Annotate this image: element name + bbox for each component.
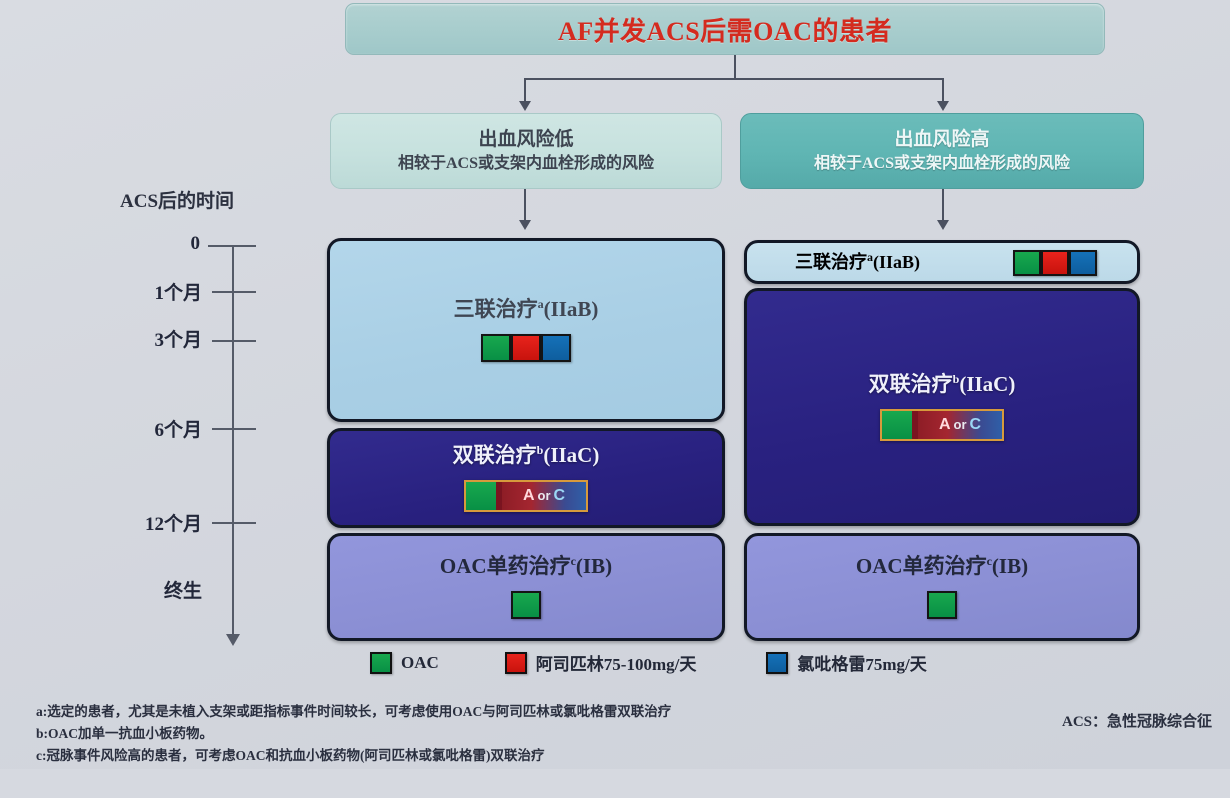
legend-label-oac: OAC (401, 653, 439, 673)
left-dual-therapy-box: 双联治疗b(IIaC) A or C (327, 428, 725, 528)
risk-box-high: 出血风险高 相较于ACS或支架内血栓形成的风险 (740, 113, 1144, 189)
left-triple-therapy-label: 三联治疗a(IIaB) (454, 298, 599, 321)
right-triple-swatches (1013, 250, 1097, 276)
legend-item-clopidogrel: 氯吡格雷75mg/天 (766, 650, 926, 675)
legend: OAC 阿司匹林75-100mg/天 氯吡格雷75mg/天 (370, 650, 927, 675)
footnote-a: a:选定的患者，尤其是未植入支架或距指标事件时间较长，可考虑使用OAC与阿司匹林… (36, 700, 671, 720)
connector-right-to-column (942, 189, 944, 222)
timeline-label-lifelong: 终生 (110, 576, 202, 603)
timeline-arrowhead (226, 634, 240, 646)
connector-right-column-arrowhead (937, 220, 949, 230)
a-or-c-text: A or C (918, 411, 1002, 439)
timeline-label-3: 3个月 (110, 325, 202, 352)
aspirin-swatch (505, 652, 527, 674)
connector-left-column-arrowhead (519, 220, 531, 230)
legend-label-clopidogrel: 氯吡格雷75mg/天 (797, 650, 926, 675)
timeline-tick-0 (208, 245, 256, 247)
right-dual-therapy-label: 双联治疗b(IIaC) (869, 373, 1016, 396)
oac-swatch (481, 334, 511, 362)
footnote-c: c:冠脉事件风险高的患者，可考虑OAC和抗血小板药物(阿司匹林或氯吡格雷)双联治… (36, 744, 544, 764)
risk-low-subtext: 相较于ACS或支架内血栓形成的风险 (398, 153, 654, 175)
clopidogrel-swatch (1069, 250, 1097, 276)
timeline-tick-6 (212, 428, 256, 430)
risk-box-low: 出血风险低 相较于ACS或支架内血栓形成的风险 (330, 113, 722, 189)
clopidogrel-swatch (766, 652, 788, 674)
diagram-canvas: AF并发ACS后需OAC的患者 出血风险低 相较于ACS或支架内血栓形成的风险 … (0, 0, 1230, 769)
a-or-c-text: A or C (502, 482, 586, 510)
risk-high-heading: 出血风险高 (894, 127, 989, 153)
timeline-tick-3 (212, 340, 256, 342)
timeline-tick-12 (212, 522, 256, 524)
diagram-title-box: AF并发ACS后需OAC的患者 (345, 3, 1105, 55)
clopidogrel-swatch (541, 334, 571, 362)
left-triple-swatches (481, 334, 571, 362)
timeline-tick-1 (212, 291, 256, 293)
watermark (1068, 666, 1230, 798)
right-triple-therapy-box: 三联治疗a(IIaB) (744, 240, 1140, 284)
risk-low-heading: 出血风险低 (478, 127, 573, 153)
left-oac-monotherapy-label: OAC单药治疗c(IB) (440, 555, 612, 578)
timeline-label-12: 12个月 (100, 509, 202, 536)
oac-swatch (466, 482, 496, 510)
left-oac-monotherapy-box: OAC单药治疗c(IB) (327, 533, 725, 641)
legend-label-aspirin: 阿司匹林75-100mg/天 (536, 650, 697, 675)
page-title: AF并发ACS后需OAC的患者 (558, 11, 892, 48)
connector-stem (734, 55, 736, 80)
abbreviation-note: ACS：急性冠脉综合征 (1062, 710, 1212, 731)
right-a-or-c-badge: A or C (880, 409, 1004, 441)
legend-item-aspirin: 阿司匹林75-100mg/天 (505, 650, 697, 675)
oac-swatch (1013, 250, 1041, 276)
connector-right-arrowhead (937, 101, 949, 111)
connector-right-drop (942, 78, 944, 103)
legend-item-oac: OAC (370, 652, 439, 674)
right-triple-therapy-label: 三联治疗a(IIaB) (795, 251, 920, 273)
aspirin-swatch (511, 334, 541, 362)
timeline-label-0: 0 (120, 233, 200, 255)
timeline-title: ACS后的时间 (120, 186, 234, 213)
oac-swatch (370, 652, 392, 674)
oac-swatch (511, 591, 541, 619)
connector-left-drop (524, 78, 526, 103)
risk-high-subtext: 相较于ACS或支架内血栓形成的风险 (814, 153, 1070, 175)
left-mono-swatches (511, 591, 541, 619)
timeline-axis (232, 245, 234, 640)
connector-left-to-column (524, 189, 526, 222)
oac-swatch (882, 411, 912, 439)
left-triple-therapy-box: 三联治疗a(IIaB) (327, 238, 725, 422)
right-oac-monotherapy-label: OAC单药治疗c(IB) (856, 555, 1028, 578)
timeline-label-1: 1个月 (110, 278, 202, 305)
left-dual-therapy-label: 双联治疗b(IIaC) (453, 444, 600, 467)
timeline-label-6: 6个月 (110, 415, 202, 442)
aspirin-swatch (1041, 250, 1069, 276)
connector-horizontal (524, 78, 944, 80)
right-mono-swatches (927, 591, 957, 619)
right-oac-monotherapy-box: OAC单药治疗c(IB) (744, 533, 1140, 641)
connector-left-arrowhead (519, 101, 531, 111)
right-dual-therapy-box: 双联治疗b(IIaC) A or C (744, 288, 1140, 526)
left-a-or-c-badge: A or C (464, 480, 588, 512)
footnote-b: b:OAC加单一抗血小板药物。 (36, 722, 213, 742)
oac-swatch (927, 591, 957, 619)
